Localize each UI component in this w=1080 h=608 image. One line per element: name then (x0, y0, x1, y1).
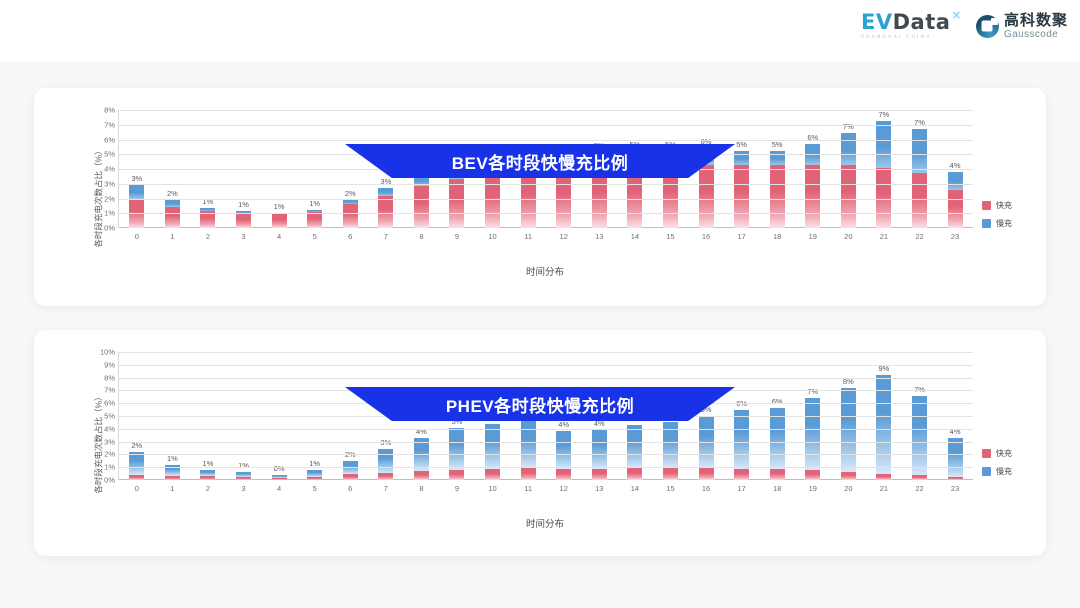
stacked-bar[interactable] (272, 213, 287, 228)
x-axis-tick-label: 21 (880, 232, 888, 241)
bar-segment-slow-charge[interactable] (912, 129, 927, 173)
bar-segment-fast-charge[interactable] (521, 468, 536, 480)
y-axis-tick-label: 6% (104, 399, 115, 408)
gausscode-cn-text: 高科数聚 (1004, 13, 1068, 28)
stacked-bar[interactable] (485, 424, 500, 480)
x-axis-tick-label: 6 (348, 232, 352, 241)
bar-segment-fast-charge[interactable] (414, 186, 429, 228)
bar-value-label: 6% (772, 397, 783, 406)
logo-group: EVData× SHANGHAI CHINA 高科数聚 Gausscode (861, 12, 1068, 40)
gridline (119, 213, 973, 214)
y-axis-tick-label: 7% (104, 120, 115, 129)
bar-segment-fast-charge[interactable] (200, 476, 215, 480)
stacked-bar[interactable] (770, 408, 785, 480)
x-axis-tick-label: 8 (419, 232, 423, 241)
y-axis-tick-label: 5% (104, 412, 115, 421)
x-axis-tick-label: 1 (170, 232, 174, 241)
bar-segment-fast-charge[interactable] (378, 196, 393, 228)
stacked-bar[interactable] (627, 425, 642, 480)
bar-value-label: 7% (914, 385, 925, 394)
bar-value-label: 3% (131, 174, 142, 183)
chart-phev: 各时段充电次数占比（%） 2%01%11%21%30%41%52%63%74%8… (34, 330, 1046, 556)
bar-segment-fast-charge[interactable] (770, 469, 785, 480)
bar-value-label: 0% (274, 464, 285, 473)
x-axis-tick-label: 20 (844, 232, 852, 241)
y-axis-tick-label: 8% (104, 373, 115, 382)
bar-segment-slow-charge[interactable] (378, 188, 393, 195)
x-axis-tick-label: 4 (277, 484, 281, 493)
x-axis-tick-label: 14 (631, 232, 639, 241)
stacked-bar[interactable] (129, 185, 144, 228)
y-axis-tick-label: 8% (104, 106, 115, 115)
gridline (119, 378, 973, 379)
y-axis-title-phev: 各时段充电次数占比（%） (93, 392, 105, 493)
bar-segment-fast-charge[interactable] (627, 468, 642, 480)
x-axis-title-phev: 时间分布 (118, 516, 972, 530)
y-axis-tick-label: 5% (104, 150, 115, 159)
x-axis-tick-label: 5 (313, 484, 317, 493)
bar-value-label: 7% (843, 122, 854, 131)
x-axis-tick-label: 19 (809, 484, 817, 493)
bar-value-label: 1% (238, 461, 249, 470)
evdata-ev-text: EV (861, 12, 893, 33)
legend-item[interactable]: 慢充 (982, 218, 1012, 229)
bar-segment-fast-charge[interactable] (414, 471, 429, 480)
legend-phev: 快充慢充 (982, 448, 1012, 477)
bar-segment-fast-charge[interactable] (165, 207, 180, 228)
bar-segment-slow-charge[interactable] (556, 431, 571, 469)
stacked-bar[interactable] (663, 422, 678, 480)
x-axis-tick-label: 2 (206, 232, 210, 241)
stacked-bar[interactable] (770, 151, 785, 228)
x-axis-tick-label: 12 (560, 232, 568, 241)
x-axis-tick-label: 21 (880, 484, 888, 493)
bar-segment-slow-charge[interactable] (307, 470, 322, 477)
stacked-bar[interactable] (521, 421, 536, 480)
x-axis-tick-label: 3 (241, 484, 245, 493)
evdata-logo: EVData× SHANGHAI CHINA (861, 12, 962, 40)
bar-segment-slow-charge[interactable] (378, 449, 393, 473)
bar-segment-fast-charge[interactable] (449, 470, 464, 480)
bar-segment-slow-charge[interactable] (948, 172, 963, 190)
bar-value-label: 1% (274, 202, 285, 211)
stacked-bar[interactable] (948, 172, 963, 228)
y-axis-title-bev: 各时段充电次数占比（%） (93, 146, 105, 247)
legend-swatch (982, 219, 991, 228)
legend-bev: 快充慢充 (982, 200, 1012, 229)
x-axis-tick-label: 5 (313, 232, 317, 241)
bar-value-label: 5% (736, 140, 747, 149)
x-axis-tick-label: 7 (384, 484, 388, 493)
x-axis-tick-label: 11 (524, 232, 532, 241)
bar-segment-slow-charge[interactable] (948, 438, 963, 477)
bar-segment-fast-charge[interactable] (556, 469, 571, 480)
y-axis-tick-label: 4% (104, 165, 115, 174)
x-axis-tick-label: 13 (595, 232, 603, 241)
x-axis-tick-label: 7 (384, 232, 388, 241)
bar-segment-fast-charge[interactable] (699, 468, 714, 480)
legend-item[interactable]: 快充 (982, 200, 1012, 211)
y-axis-tick-label: 0% (104, 224, 115, 233)
x-axis-tick-label: 0 (135, 484, 139, 493)
stacked-bar[interactable] (307, 470, 322, 480)
evdata-wordmark: EVData× (861, 12, 962, 33)
gridline (119, 110, 973, 111)
x-axis-tick-label: 20 (844, 484, 852, 493)
y-axis-tick-label: 2% (104, 450, 115, 459)
evdata-x-icon: × (951, 9, 962, 21)
bar-segment-fast-charge[interactable] (734, 469, 749, 480)
x-axis-tick-label: 15 (666, 232, 674, 241)
legend-label: 快充 (996, 200, 1012, 211)
bar-segment-slow-charge[interactable] (734, 151, 749, 166)
bar-value-label: 1% (309, 199, 320, 208)
stacked-bar[interactable] (272, 475, 287, 480)
stacked-bar[interactable] (556, 431, 571, 480)
bar-value-label: 7% (879, 110, 890, 119)
x-axis-tick-label: 8 (419, 484, 423, 493)
bar-segment-fast-charge[interactable] (841, 165, 856, 228)
gausscode-wordmark: 高科数聚 Gausscode (1004, 13, 1068, 40)
gridline (119, 125, 973, 126)
bar-segment-slow-charge[interactable] (592, 430, 607, 469)
x-axis-tick-label: 17 (737, 232, 745, 241)
x-axis-tick-label: 16 (702, 232, 710, 241)
x-axis-tick-label: 16 (702, 484, 710, 493)
y-axis-tick-label: 2% (104, 194, 115, 203)
stacked-bar[interactable] (948, 438, 963, 480)
stacked-bar[interactable] (699, 416, 714, 480)
x-axis-tick-label: 4 (277, 232, 281, 241)
gridline (119, 140, 973, 141)
x-axis-tick-label: 23 (951, 484, 959, 493)
y-axis-tick-label: 7% (104, 386, 115, 395)
stacked-bar[interactable] (414, 438, 429, 480)
bar-segment-fast-charge[interactable] (699, 165, 714, 228)
bar-segment-fast-charge[interactable] (876, 474, 891, 480)
y-axis-tick-label: 1% (104, 463, 115, 472)
bar-segment-fast-charge[interactable] (485, 469, 500, 480)
stacked-bar[interactable] (200, 208, 215, 228)
legend-swatch (982, 201, 991, 210)
bar-segment-fast-charge[interactable] (378, 473, 393, 480)
legend-label: 快充 (996, 448, 1012, 459)
x-axis-tick-label: 19 (809, 232, 817, 241)
gausscode-mark-icon (976, 15, 999, 38)
bar-segment-slow-charge[interactable] (485, 424, 500, 469)
x-axis-tick-label: 12 (560, 484, 568, 493)
x-axis-tick-label: 3 (241, 232, 245, 241)
bar-value-label: 1% (238, 200, 249, 209)
y-axis-tick-label: 3% (104, 179, 115, 188)
x-axis-tick-label: 11 (524, 484, 532, 493)
bar-segment-fast-charge[interactable] (912, 475, 927, 480)
x-axis-tick-label: 9 (455, 232, 459, 241)
stacked-bar[interactable] (378, 188, 393, 228)
stacked-bar[interactable] (734, 151, 749, 228)
x-axis-tick-label: 22 (915, 232, 923, 241)
x-axis-tick-label: 23 (951, 232, 959, 241)
bar-segment-fast-charge[interactable] (272, 478, 287, 480)
bar-segment-slow-charge[interactable] (129, 185, 144, 199)
x-axis-tick-label: 22 (915, 484, 923, 493)
bar-segment-fast-charge[interactable] (307, 477, 322, 480)
legend-swatch (982, 467, 991, 476)
bar-segment-fast-charge[interactable] (948, 190, 963, 228)
y-axis-tick-label: 9% (104, 360, 115, 369)
x-axis-tick-label: 18 (773, 232, 781, 241)
stacked-bar[interactable] (129, 452, 144, 480)
gausscode-en-text: Gausscode (1004, 30, 1068, 40)
bar-segment-slow-charge[interactable] (449, 428, 464, 470)
x-axis-tick-label: 1 (170, 484, 174, 493)
bar-segment-slow-charge[interactable] (841, 388, 856, 472)
x-axis-tick-label: 13 (595, 484, 603, 493)
bar-value-label: 7% (914, 118, 925, 127)
bar-segment-fast-charge[interactable] (343, 204, 358, 228)
x-axis-tick-label: 6 (348, 484, 352, 493)
bar-segment-slow-charge[interactable] (734, 410, 749, 469)
content-panel: 各时段充电次数占比（%） 3%02%11%21%31%41%52%63%74%8… (0, 62, 1080, 608)
bar-segment-fast-charge[interactable] (129, 475, 144, 480)
legend-swatch (982, 449, 991, 458)
gridline (119, 442, 973, 443)
bar-segment-fast-charge[interactable] (343, 474, 358, 480)
x-axis-tick-label: 10 (488, 484, 496, 493)
y-axis-tick-label: 1% (104, 209, 115, 218)
stacked-bar[interactable] (805, 144, 820, 228)
bar-value-label: 2% (345, 189, 356, 198)
stacked-bar[interactable] (236, 472, 251, 480)
bar-segment-slow-charge[interactable] (627, 425, 642, 469)
gridline (119, 467, 973, 468)
stacked-bar[interactable] (841, 388, 856, 480)
bar-segment-slow-charge[interactable] (876, 121, 891, 167)
chart-bev: 各时段充电次数占比（%） 3%02%11%21%31%41%52%63%74%8… (34, 88, 1046, 306)
chart-card-bev: 各时段充电次数占比（%） 3%02%11%21%31%41%52%63%74%8… (34, 88, 1046, 306)
bar-segment-fast-charge[interactable] (805, 470, 820, 480)
legend-item[interactable]: 慢充 (982, 466, 1012, 477)
x-axis-tick-label: 17 (737, 484, 745, 493)
gridline (119, 454, 973, 455)
bar-segment-slow-charge[interactable] (912, 396, 927, 475)
evdata-data-text: Data (893, 12, 951, 33)
bar-segment-fast-charge[interactable] (663, 468, 678, 480)
chart-title-banner-bev: BEV各时段快慢充比例 (345, 144, 735, 178)
gridline (119, 352, 973, 353)
stacked-bar[interactable] (876, 121, 891, 228)
bar-segment-fast-charge[interactable] (165, 476, 180, 480)
gridline (119, 365, 973, 366)
legend-label: 慢充 (996, 466, 1012, 477)
bar-segment-fast-charge[interactable] (449, 179, 464, 228)
y-axis-tick-label: 10% (100, 348, 115, 357)
x-axis-tick-label: 0 (135, 232, 139, 241)
chart-card-phev: 各时段充电次数占比（%） 2%01%11%21%30%41%52%63%74%8… (34, 330, 1046, 556)
stacked-bar[interactable] (200, 470, 215, 480)
x-axis-tick-label: 15 (666, 484, 674, 493)
bar-value-label: 3% (380, 438, 391, 447)
y-axis-tick-label: 6% (104, 135, 115, 144)
x-axis-tick-label: 14 (631, 484, 639, 493)
chart-title-banner-phev: PHEV各时段快慢充比例 (345, 387, 735, 421)
evdata-tagline: SHANGHAI CHINA (861, 35, 932, 40)
legend-label: 慢充 (996, 218, 1012, 229)
bar-segment-slow-charge[interactable] (770, 408, 785, 469)
bar-segment-fast-charge[interactable] (272, 214, 287, 228)
bar-value-label: 6% (807, 133, 818, 142)
bar-segment-fast-charge[interactable] (236, 477, 251, 480)
bar-value-label: 2% (167, 189, 178, 198)
x-axis-tick-label: 9 (455, 484, 459, 493)
bar-segment-slow-charge[interactable] (770, 151, 785, 166)
bar-segment-fast-charge[interactable] (912, 173, 927, 228)
stacked-bar[interactable] (343, 461, 358, 480)
page-header: EVData× SHANGHAI CHINA 高科数聚 Gausscode (0, 0, 1080, 62)
bar-value-label: 5% (772, 140, 783, 149)
x-axis-tick-label: 18 (773, 484, 781, 493)
bar-segment-fast-charge[interactable] (236, 214, 251, 228)
x-axis-title-bev: 时间分布 (118, 264, 972, 278)
y-axis-tick-label: 0% (104, 476, 115, 485)
bar-segment-fast-charge[interactable] (592, 469, 607, 480)
x-axis-tick-label: 10 (488, 232, 496, 241)
gridline (119, 429, 973, 430)
bar-segment-fast-charge[interactable] (948, 477, 963, 480)
bar-segment-fast-charge[interactable] (734, 165, 749, 228)
bar-value-label: 7% (807, 387, 818, 396)
bar-segment-fast-charge[interactable] (485, 173, 500, 228)
gausscode-logo: 高科数聚 Gausscode (976, 13, 1068, 40)
y-axis-tick-label: 4% (104, 424, 115, 433)
bar-segment-fast-charge[interactable] (805, 165, 820, 228)
bar-segment-slow-charge[interactable] (841, 133, 856, 165)
bar-segment-fast-charge[interactable] (770, 165, 785, 228)
gridline (119, 184, 973, 185)
legend-item[interactable]: 快充 (982, 448, 1012, 459)
stacked-bar[interactable] (734, 410, 749, 480)
bar-value-label: 3% (380, 177, 391, 186)
x-axis-tick-label: 2 (206, 484, 210, 493)
gridline (119, 199, 973, 200)
y-axis-tick-label: 3% (104, 437, 115, 446)
bar-segment-fast-charge[interactable] (841, 472, 856, 480)
bar-segment-slow-charge[interactable] (805, 398, 820, 470)
